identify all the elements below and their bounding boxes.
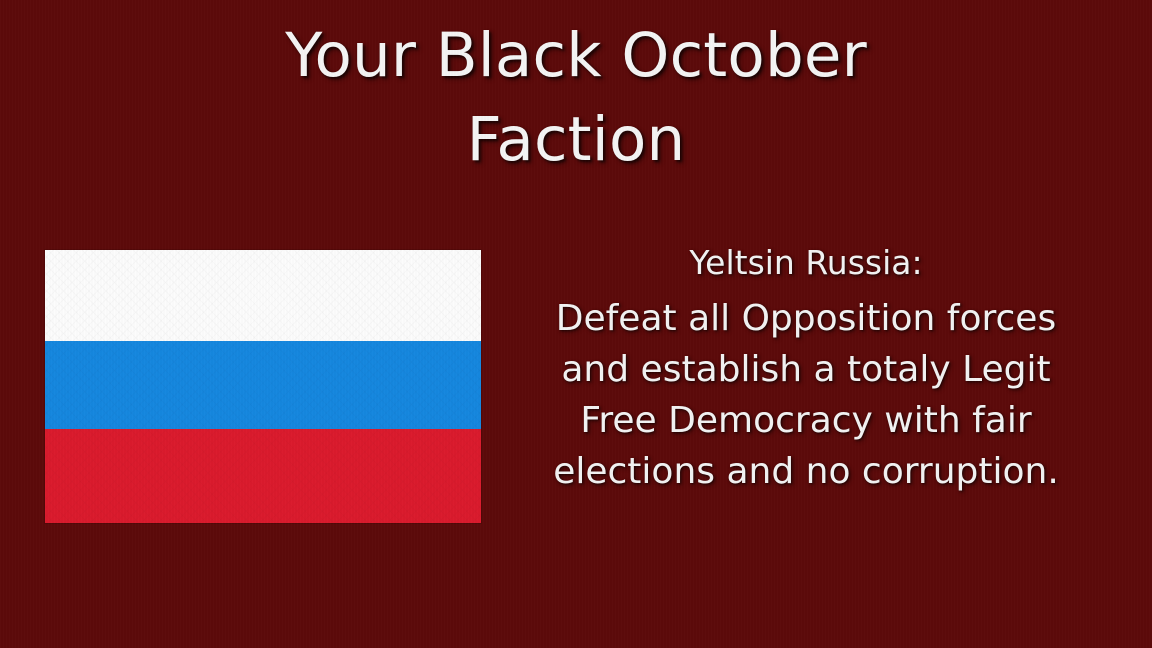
faction-name-heading: Yeltsin Russia: xyxy=(540,240,1072,285)
slide-canvas: Your Black October Faction Yeltsin Russi… xyxy=(0,0,1152,648)
title-line-1: Your Black October xyxy=(0,14,1152,98)
faction-objective-text: Defeat all Opposition forces and establi… xyxy=(540,293,1072,497)
faction-description: Yeltsin Russia: Defeat all Opposition fo… xyxy=(540,240,1072,497)
flag-white-band xyxy=(45,250,481,341)
title-line-2: Faction xyxy=(0,98,1152,182)
russia-flag-image xyxy=(45,250,481,523)
flag-red-band xyxy=(45,429,481,523)
flag-blue-band xyxy=(45,341,481,429)
page-title: Your Black October Faction xyxy=(0,14,1152,182)
